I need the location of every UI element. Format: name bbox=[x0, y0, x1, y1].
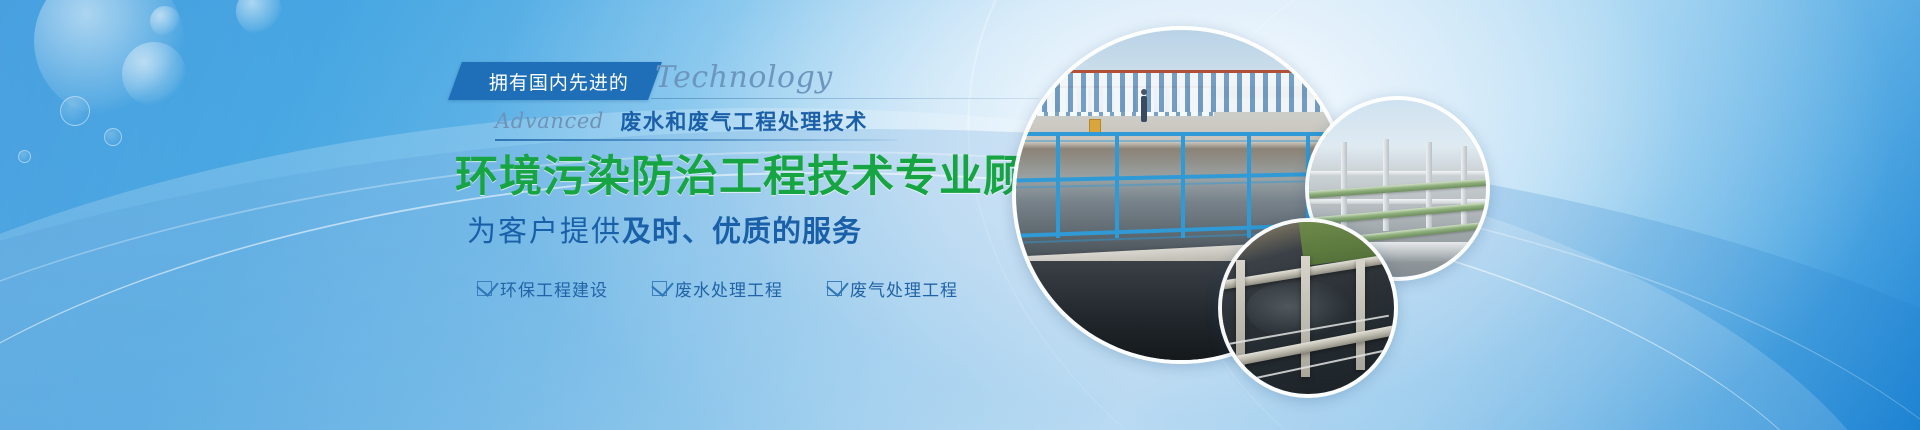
feature-item-wastewater[interactable]: 废水处理工程 bbox=[652, 276, 783, 301]
check-icon bbox=[827, 281, 842, 296]
eyebrow-tag: 拥有国内先进的 bbox=[448, 62, 662, 100]
bubble-decoration bbox=[122, 42, 186, 106]
promo-banner: 拥有国内先进的 Technology Advanced 废水和废气工程处理技术 … bbox=[0, 0, 1920, 430]
bubble-decoration bbox=[150, 6, 180, 36]
photo-detail-post bbox=[1181, 132, 1185, 238]
eyebrow-row: 拥有国内先进的 Technology bbox=[455, 62, 1095, 100]
feature-list: 环保工程建设 废水处理工程 废气处理工程 bbox=[455, 276, 1095, 301]
tagline-lead: 为客户提供 bbox=[467, 214, 622, 248]
feature-item-construction[interactable]: 环保工程建设 bbox=[477, 276, 608, 301]
check-icon bbox=[477, 281, 492, 296]
bubble-decoration bbox=[236, 0, 282, 34]
photo-detail-worker bbox=[1141, 96, 1147, 122]
tagline-emphasis: 及时、优质的服务 bbox=[622, 214, 862, 248]
bubble-decoration bbox=[104, 128, 122, 146]
feature-item-waste-gas[interactable]: 废气处理工程 bbox=[827, 276, 958, 301]
tagline: 为客户提供及时、优质的服务 bbox=[455, 208, 1095, 250]
photo-detail-building bbox=[1016, 70, 1346, 113]
bubble-decoration bbox=[18, 150, 31, 163]
eyebrow-tag-label: 拥有国内先进的 bbox=[489, 68, 629, 95]
banner-copy: 拥有国内先进的 Technology Advanced 废水和废气工程处理技术 … bbox=[455, 62, 1095, 301]
photo-detail-slab bbox=[1236, 260, 1245, 367]
subline-divider bbox=[495, 139, 897, 141]
feature-label: 环保工程建设 bbox=[500, 276, 608, 301]
subline-chinese-text: 废水和废气工程处理技术 bbox=[620, 110, 868, 134]
bubble-decoration bbox=[60, 96, 90, 126]
page-title: 环境污染防治工程技术专业顾问 bbox=[455, 154, 1095, 200]
eyebrow-divider bbox=[651, 98, 1039, 99]
photo-detail-post bbox=[1056, 132, 1060, 238]
photo-detail-post bbox=[1115, 132, 1119, 238]
subline-english-word: Advanced bbox=[495, 109, 604, 133]
photo-image bbox=[1222, 222, 1394, 394]
check-icon bbox=[652, 281, 667, 296]
photo-circle-sludge-tank bbox=[1218, 218, 1398, 398]
photo-detail-bin bbox=[1089, 119, 1101, 133]
feature-label: 废气处理工程 bbox=[850, 276, 958, 301]
eyebrow-english-word: Technology bbox=[655, 60, 833, 95]
photo-collage bbox=[1000, 0, 1920, 430]
subline-row: Advanced 废水和废气工程处理技术 bbox=[455, 106, 1095, 142]
photo-detail-slab bbox=[1301, 256, 1310, 376]
feature-label: 废水处理工程 bbox=[675, 276, 783, 301]
bubble-decoration bbox=[34, 0, 184, 116]
